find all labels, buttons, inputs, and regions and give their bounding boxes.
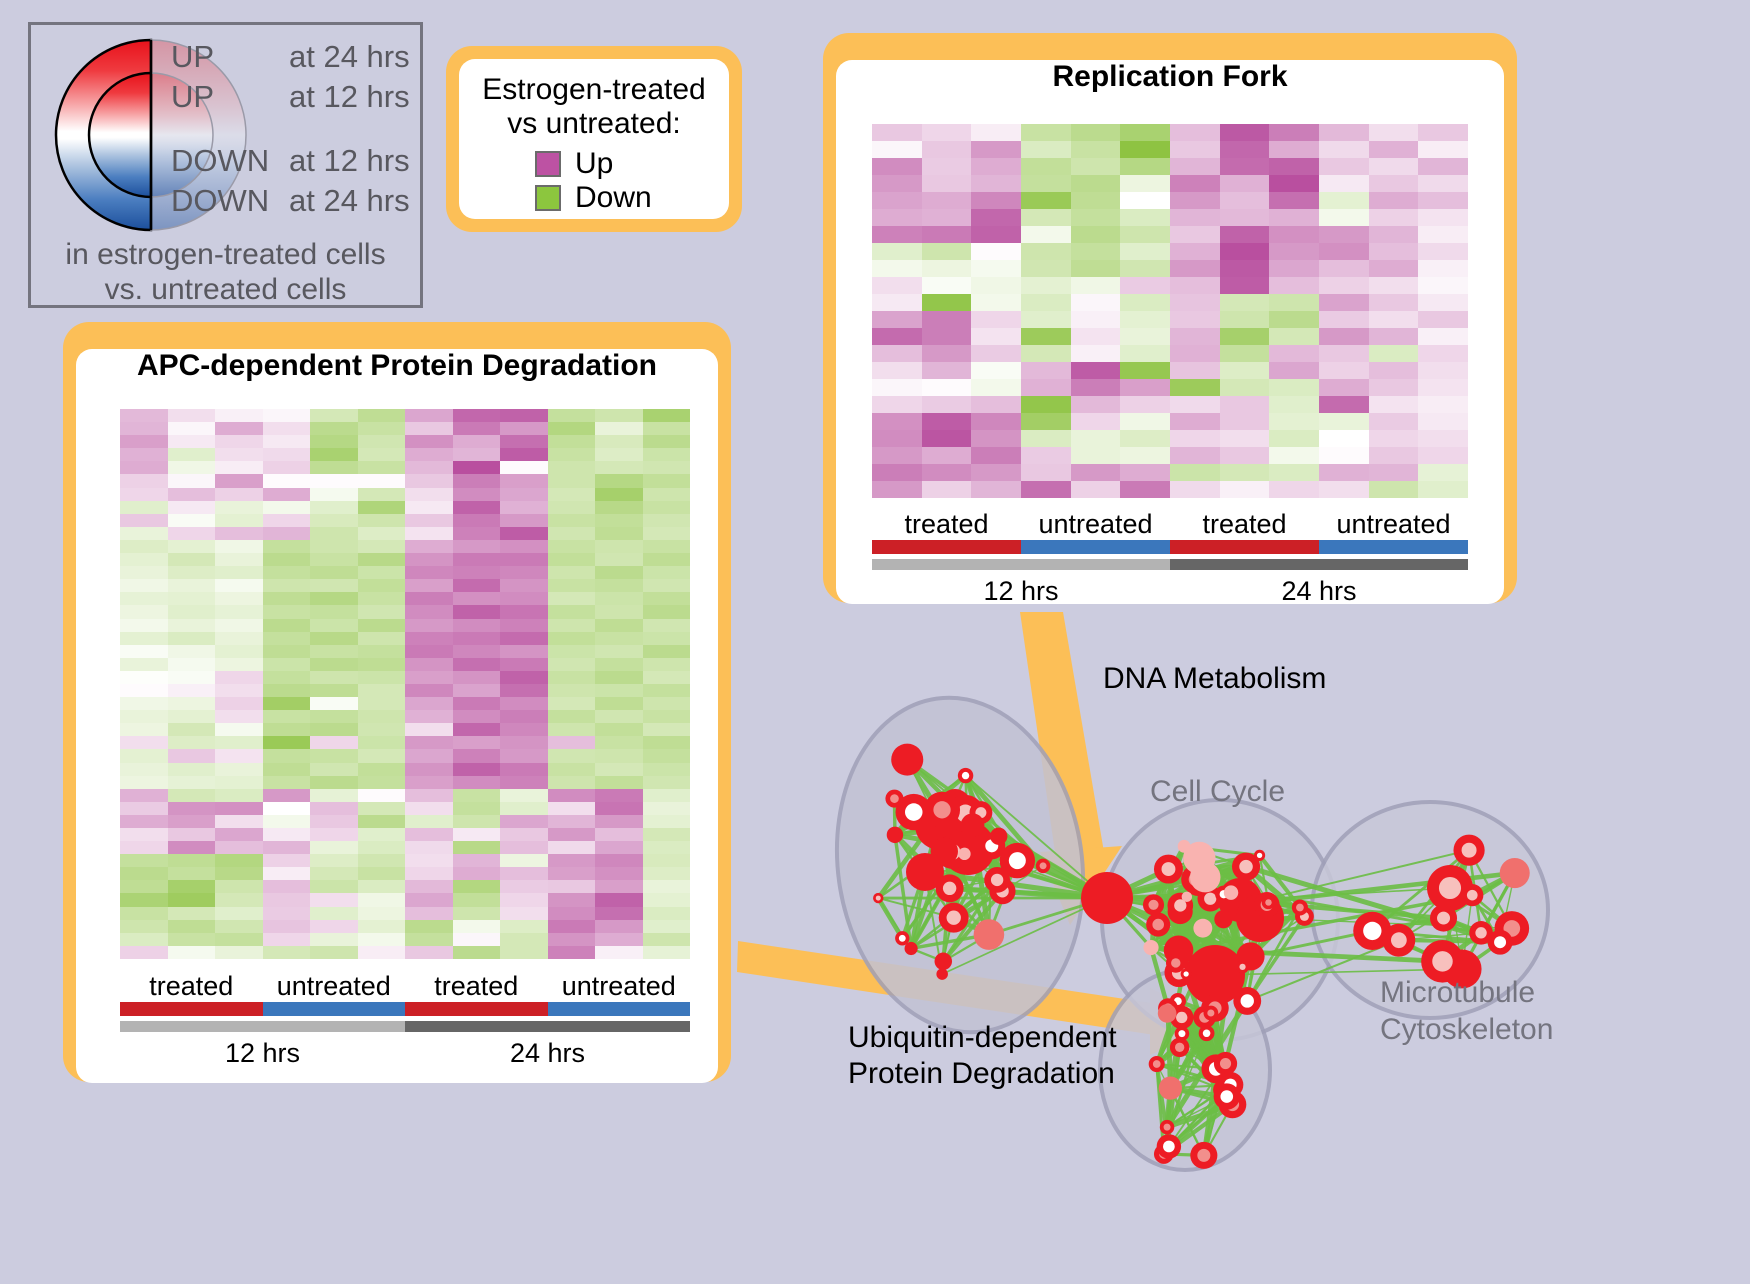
heatmap-cell (643, 789, 691, 802)
heatmap-cell (500, 619, 548, 632)
replication-fork-group-labels: treated untreated treated untreated (872, 509, 1468, 540)
heatmap-cell (215, 802, 263, 815)
heatmap-cell (263, 422, 311, 435)
apc-time-bar (120, 1021, 690, 1032)
group-label-untreated-12: untreated (1021, 509, 1170, 540)
heatmap-cell (358, 579, 406, 592)
heatmap-cell (168, 749, 216, 762)
heatmap-cell (405, 776, 453, 789)
heatmap-cell (1220, 396, 1270, 413)
heatmap-cell (548, 749, 596, 762)
heatmap-cell (548, 933, 596, 946)
heatmap-cell (595, 763, 643, 776)
heatmap-cell (548, 841, 596, 854)
heatmap-cell (168, 893, 216, 906)
heatmap-cell (1071, 294, 1121, 311)
heatmap-cell (215, 789, 263, 802)
heatmap-cell (405, 422, 453, 435)
heatmap-cell (1021, 396, 1071, 413)
heatmap-cell (310, 946, 358, 959)
treatment-bar-segment (405, 1002, 548, 1016)
heatmap-cell (310, 461, 358, 474)
heatmap-cell (215, 763, 263, 776)
heatmap-cell (263, 789, 311, 802)
heatmap-cell (215, 658, 263, 671)
heatmap-cell (643, 776, 691, 789)
cluster-label-dna-metabolism: DNA Metabolism (1103, 662, 1326, 696)
heatmap-cell (453, 776, 501, 789)
heatmap-cell (120, 763, 168, 776)
heatmap-cell (595, 422, 643, 435)
heatmap-cell (215, 867, 263, 880)
heatmap-cell (500, 933, 548, 946)
heatmap-cell (1418, 226, 1468, 243)
heatmap-cell (1120, 294, 1170, 311)
colorbar-term-down-24: DOWN (171, 183, 289, 219)
heatmap-cell (971, 243, 1021, 260)
heatmap-cell (453, 763, 501, 776)
heatmap-cell (872, 192, 922, 209)
heatmap-cell (120, 579, 168, 592)
legend-label-down: Down (575, 181, 652, 215)
heatmap-cell (263, 841, 311, 854)
heatmap-cell (310, 907, 358, 920)
heatmap-cell (595, 461, 643, 474)
heatmap-cell (971, 413, 1021, 430)
heatmap-cell (310, 920, 358, 933)
apc-time-labels: 12 hrs 24 hrs (120, 1038, 690, 1069)
heatmap-cell (358, 671, 406, 684)
heatmap-cell (120, 946, 168, 959)
heatmap-cell (1021, 379, 1071, 396)
heatmap-cell (1369, 345, 1419, 362)
heatmap-cell (548, 867, 596, 880)
heatmap-cell (263, 907, 311, 920)
heatmap-cell (358, 409, 406, 422)
heatmap-cell (548, 723, 596, 736)
heatmap-cell (643, 514, 691, 527)
heatmap-cell (643, 841, 691, 854)
heatmap-cell (971, 226, 1021, 243)
heatmap-cell (453, 488, 501, 501)
heatmap-cell (405, 605, 453, 618)
heatmap-cell (120, 893, 168, 906)
heatmap-cell (643, 854, 691, 867)
heatmap-cell (1021, 328, 1071, 345)
heatmap-cell (595, 566, 643, 579)
heatmap-cell (643, 579, 691, 592)
heatmap-cell (358, 540, 406, 553)
heatmap-cell (922, 158, 972, 175)
heatmap-cell (500, 828, 548, 841)
heatmap-cell (1120, 345, 1170, 362)
heatmap-cell (1220, 345, 1270, 362)
heatmap-cell (358, 632, 406, 645)
time-label-24hrs: 24 hrs (1170, 576, 1468, 607)
replication-fork-heatmap (872, 124, 1468, 498)
heatmap-cell (922, 243, 972, 260)
heatmap-cell (120, 920, 168, 933)
heatmap-cell (453, 435, 501, 448)
heatmap-cell (1269, 260, 1319, 277)
heatmap-cell (872, 430, 922, 447)
heatmap-cell (643, 893, 691, 906)
heatmap-cell (971, 362, 1021, 379)
heatmap-cell (168, 514, 216, 527)
heatmap-cell (405, 697, 453, 710)
heatmap-cell (1170, 396, 1220, 413)
heatmap-cell (1021, 209, 1071, 226)
heatmap-cell (872, 243, 922, 260)
heatmap-cell (168, 789, 216, 802)
heatmap-cell (500, 841, 548, 854)
heatmap-cell (168, 540, 216, 553)
heatmap-cell (548, 776, 596, 789)
heatmap-cell (595, 776, 643, 789)
heatmap-cell (1021, 294, 1071, 311)
heatmap-cell (120, 710, 168, 723)
heatmap-cell (1021, 124, 1071, 141)
heatmap-cell (500, 448, 548, 461)
heatmap-cell (263, 749, 311, 762)
heatmap-cell (1170, 124, 1220, 141)
heatmap-cell (500, 802, 548, 815)
heatmap-cell (1120, 328, 1170, 345)
heatmap-cell (1120, 413, 1170, 430)
heatmap-cell (405, 802, 453, 815)
heatmap-cell (358, 867, 406, 880)
heatmap-cell (215, 553, 263, 566)
heatmap-cell (595, 893, 643, 906)
heatmap-cell (453, 867, 501, 880)
heatmap-cell (358, 619, 406, 632)
heatmap-cell (595, 448, 643, 461)
heatmap-cell (1170, 277, 1220, 294)
heatmap-cell (120, 553, 168, 566)
heatmap-cell (405, 671, 453, 684)
heatmap-cell (1021, 430, 1071, 447)
heatmap-cell (453, 422, 501, 435)
heatmap-cell (500, 645, 548, 658)
heatmap-cell (1369, 481, 1419, 498)
heatmap-cell (310, 658, 358, 671)
swatch-down-icon (535, 185, 561, 211)
heatmap-cell (358, 841, 406, 854)
heatmap-cell (595, 684, 643, 697)
heatmap-cell (168, 592, 216, 605)
heatmap-cell (1021, 243, 1071, 260)
heatmap-cell (643, 605, 691, 618)
heatmap-cell (1021, 362, 1071, 379)
heatmap-cell (1220, 260, 1270, 277)
heatmap-cell (358, 907, 406, 920)
colorbar-time-up-24: at 24 hrs (289, 39, 410, 75)
heatmap-cell (1369, 192, 1419, 209)
heatmap-cell (971, 379, 1021, 396)
treatment-bar-segment (263, 1002, 406, 1016)
heatmap-cell (310, 933, 358, 946)
heatmap-cell (168, 461, 216, 474)
heatmap-cell (1071, 243, 1121, 260)
heatmap-cell (1071, 124, 1121, 141)
heatmap-cell (120, 501, 168, 514)
heatmap-cell (971, 311, 1021, 328)
colorbar-legend-row: DOWN at 24 hrs (171, 183, 410, 223)
heatmap-cell (548, 658, 596, 671)
heatmap-cell (500, 867, 548, 880)
heatmap-cell (1170, 243, 1220, 260)
heatmap-cell (1369, 294, 1419, 311)
heatmap-cell (595, 605, 643, 618)
heatmap-cell (168, 920, 216, 933)
legend-title-line2: vs untreated: (459, 107, 729, 141)
heatmap-cell (215, 579, 263, 592)
heatmap-cell (548, 448, 596, 461)
heatmap-cell (263, 474, 311, 487)
heatmap-cell (643, 527, 691, 540)
heatmap-cell (595, 815, 643, 828)
heatmap-cell (168, 723, 216, 736)
heatmap-cell (263, 893, 311, 906)
heatmap-cell (453, 474, 501, 487)
colorbar-footer-line2: vs. untreated cells (31, 272, 420, 307)
heatmap-cell (548, 527, 596, 540)
heatmap-cell (215, 854, 263, 867)
apc-heatmap (120, 409, 690, 959)
heatmap-cell (1369, 447, 1419, 464)
heatmap-cell (595, 501, 643, 514)
heatmap-cell (310, 540, 358, 553)
heatmap-cell (1170, 209, 1220, 226)
heatmap-cell (872, 464, 922, 481)
heatmap-cell (971, 396, 1021, 413)
heatmap-cell (971, 192, 1021, 209)
heatmap-cell (405, 592, 453, 605)
heatmap-cell (453, 815, 501, 828)
heatmap-cell (1071, 141, 1121, 158)
heatmap-cell (310, 697, 358, 710)
heatmap-cell (405, 920, 453, 933)
treatment-bar-segment (872, 540, 1021, 554)
heatmap-cell (215, 605, 263, 618)
heatmap-cell (120, 802, 168, 815)
heatmap-cell (971, 481, 1021, 498)
figure-canvas: UP at 24 hrs UP at 12 hrs DOWN at 12 hrs… (0, 0, 1750, 1279)
heatmap-cell (922, 260, 972, 277)
heatmap-cell (1021, 260, 1071, 277)
heatmap-cell (1071, 192, 1121, 209)
heatmap-cell (1021, 413, 1071, 430)
heatmap-cell (215, 435, 263, 448)
heatmap-cell (120, 605, 168, 618)
heatmap-cell (405, 907, 453, 920)
heatmap-cell (643, 474, 691, 487)
heatmap-cell (358, 776, 406, 789)
heatmap-cell (1021, 311, 1071, 328)
heatmap-cell (263, 815, 311, 828)
heatmap-cell (1071, 413, 1121, 430)
heatmap-cell (548, 920, 596, 933)
heatmap-cell (643, 723, 691, 736)
heatmap-cell (1220, 311, 1270, 328)
heatmap-cell (1021, 464, 1071, 481)
heatmap-cell (1021, 447, 1071, 464)
heatmap-cell (872, 141, 922, 158)
heatmap-cell (643, 435, 691, 448)
heatmap-cell (1269, 294, 1319, 311)
heatmap-cell (971, 328, 1021, 345)
heatmap-cell (548, 435, 596, 448)
heatmap-cell (358, 763, 406, 776)
heatmap-cell (1071, 226, 1121, 243)
heatmap-cell (1021, 175, 1071, 192)
heatmap-cell (971, 294, 1021, 311)
heatmap-cell (1319, 226, 1369, 243)
heatmap-cell (595, 749, 643, 762)
heatmap-cell (263, 540, 311, 553)
colorbar-footer-line1: in estrogen-treated cells (31, 237, 420, 272)
heatmap-cell (263, 566, 311, 579)
heatmap-cell (922, 430, 972, 447)
heatmap-cell (595, 435, 643, 448)
heatmap-cell (358, 749, 406, 762)
heatmap-cell (500, 658, 548, 671)
heatmap-cell (405, 946, 453, 959)
heatmap-cell (643, 553, 691, 566)
heatmap-cell (1220, 124, 1270, 141)
heatmap-cell (1319, 379, 1369, 396)
replication-fork-treatment-bar (872, 540, 1468, 554)
heatmap-cell (548, 946, 596, 959)
heatmap-cell (1369, 328, 1419, 345)
heatmap-cell (310, 854, 358, 867)
heatmap-cell (1071, 464, 1121, 481)
heatmap-cell (168, 566, 216, 579)
heatmap-cell (643, 540, 691, 553)
heatmap-cell (263, 619, 311, 632)
heatmap-cell (872, 413, 922, 430)
heatmap-cell (215, 841, 263, 854)
legend-items: Up Down (459, 147, 729, 215)
colorbar-legend-row: UP at 24 hrs (171, 39, 410, 79)
heatmap-cell (500, 763, 548, 776)
heatmap-cell (168, 527, 216, 540)
heatmap-cell (453, 592, 501, 605)
heatmap-cell (1120, 447, 1170, 464)
heatmap-cell (872, 328, 922, 345)
heatmap-cell (872, 447, 922, 464)
heatmap-cell (1220, 481, 1270, 498)
heatmap-cell (1170, 175, 1220, 192)
heatmap-cell (310, 435, 358, 448)
colorbar-term-up-12: UP (171, 79, 289, 115)
heatmap-cell (405, 828, 453, 841)
heatmap-cell (643, 501, 691, 514)
colorbar-term-up-24: UP (171, 39, 289, 75)
heatmap-cell (1170, 464, 1220, 481)
heatmap-cell (405, 448, 453, 461)
heatmap-cell (548, 763, 596, 776)
heatmap-cell (500, 553, 548, 566)
heatmap-cell (1071, 396, 1121, 413)
heatmap-cell (358, 828, 406, 841)
heatmap-cell (310, 802, 358, 815)
heatmap-cell (120, 540, 168, 553)
heatmap-cell (358, 501, 406, 514)
heatmap-cell (1170, 141, 1220, 158)
heatmap-cell (263, 592, 311, 605)
heatmap-cell (500, 488, 548, 501)
heatmap-cell (548, 802, 596, 815)
heatmap-cell (263, 553, 311, 566)
heatmap-cell (453, 828, 501, 841)
heatmap-cell (1220, 209, 1270, 226)
heatmap-cell (1269, 362, 1319, 379)
heatmap-cell (1418, 175, 1468, 192)
apc-group-labels: treated untreated treated untreated (120, 971, 690, 1002)
heatmap-cell (1369, 464, 1419, 481)
heatmap-cell (358, 435, 406, 448)
heatmap-cell (405, 736, 453, 749)
heatmap-cell (405, 710, 453, 723)
heatmap-cell (595, 828, 643, 841)
heatmap-cell (215, 946, 263, 959)
heatmap-cell (500, 736, 548, 749)
heatmap-cell (1120, 243, 1170, 260)
heatmap-cell (922, 294, 972, 311)
cluster-label-ubiquitin-line2: Protein Degradation (848, 1056, 1117, 1092)
heatmap-cell (1269, 192, 1319, 209)
heatmap-cell (263, 605, 311, 618)
heatmap-cell (1269, 447, 1319, 464)
heatmap-cell (310, 841, 358, 854)
heatmap-cell (263, 710, 311, 723)
heatmap-cell (1369, 175, 1419, 192)
heatmap-cell (1369, 243, 1419, 260)
heatmap-cell (1319, 362, 1369, 379)
heatmap-cell (120, 736, 168, 749)
heatmap-cell (215, 645, 263, 658)
heatmap-cell (1319, 209, 1369, 226)
replication-fork-title: Replication Fork (836, 60, 1504, 94)
heatmap-cell (1369, 124, 1419, 141)
heatmap-cell (548, 893, 596, 906)
heatmap-cell (453, 697, 501, 710)
colorbar-legend-row: DOWN at 12 hrs (171, 143, 410, 183)
heatmap-cell (971, 277, 1021, 294)
heatmap-cell (500, 632, 548, 645)
heatmap-cell (595, 671, 643, 684)
apc-degradation-panel: APC-dependent Protein Degradation treate… (63, 322, 731, 1082)
heatmap-cell (120, 422, 168, 435)
heatmap-cell (1369, 379, 1419, 396)
time-bar-segment (405, 1021, 690, 1032)
heatmap-cell (1269, 311, 1319, 328)
heatmap-cell (1220, 447, 1270, 464)
heatmap-cell (1418, 209, 1468, 226)
heatmap-cell (1220, 141, 1270, 158)
heatmap-cell (1120, 464, 1170, 481)
heatmap-cell (263, 802, 311, 815)
heatmap-cell (263, 409, 311, 422)
heatmap-cell (500, 474, 548, 487)
heatmap-cell (1269, 175, 1319, 192)
heatmap-cell (120, 789, 168, 802)
heatmap-cell (643, 488, 691, 501)
heatmap-cell (971, 430, 1021, 447)
heatmap-cell (595, 409, 643, 422)
heatmap-cell (595, 789, 643, 802)
